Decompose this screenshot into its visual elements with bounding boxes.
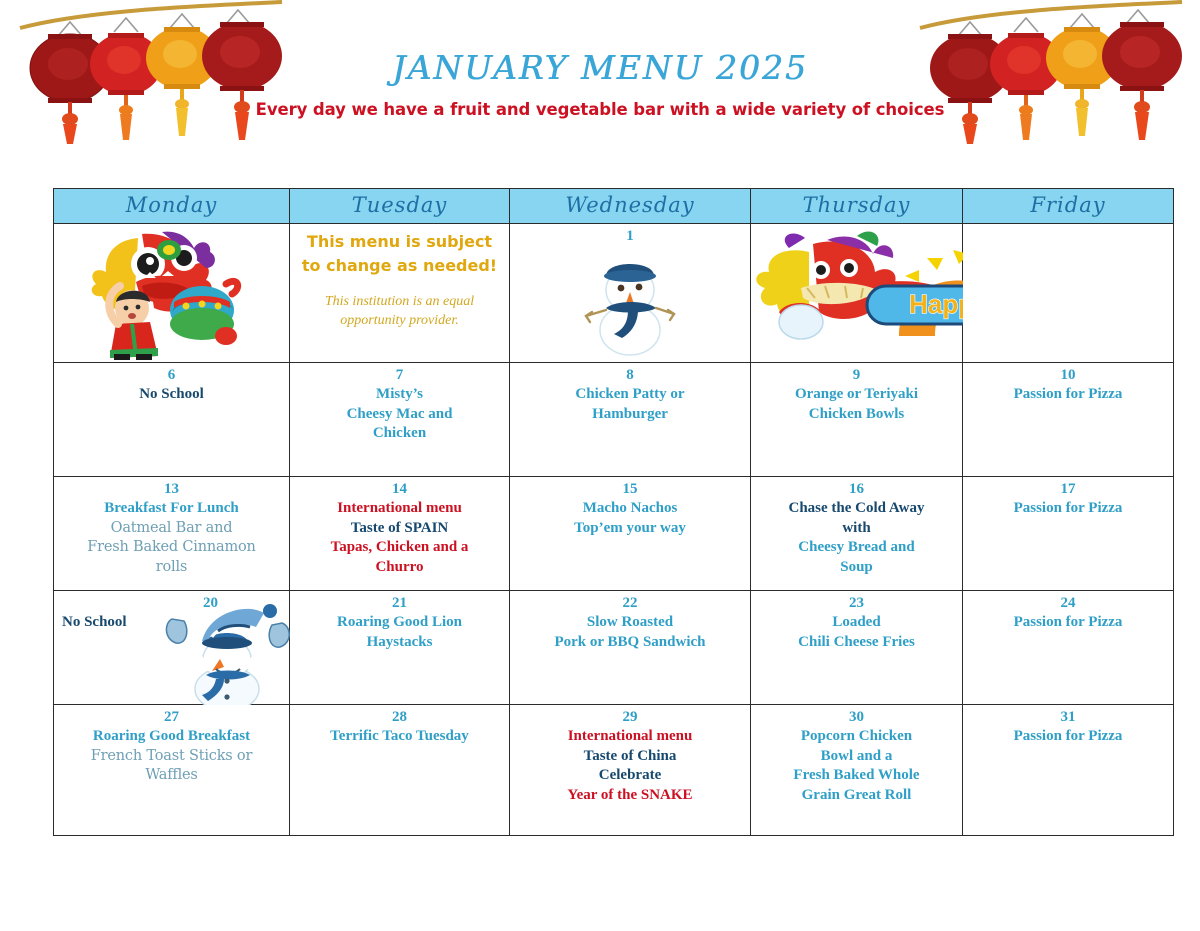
menu-line: Passion for Pizza bbox=[967, 385, 1169, 405]
menu-line: Passion for Pizza bbox=[967, 613, 1169, 633]
day-cell[interactable]: 28 Terrific Taco Tuesday bbox=[290, 705, 510, 836]
menu-line: French Toast Sticks or bbox=[58, 747, 285, 767]
menu-lines: Orange or Teriyaki Chicken Bowls bbox=[751, 385, 962, 424]
day-label: Friday bbox=[1030, 193, 1105, 217]
day-label: Tuesday bbox=[352, 193, 448, 217]
day-cell[interactable]: 8 Chicken Patty or Hamburger bbox=[510, 363, 751, 477]
menu-line: Popcorn Chicken bbox=[755, 727, 958, 747]
day-cell[interactable]: 16 Chase the Cold Away with Cheesy Bread… bbox=[751, 477, 963, 591]
day-cell[interactable]: 14 International menu Taste of SPAIN Tap… bbox=[290, 477, 510, 591]
menu-line: Pork or BBQ Sandwich bbox=[514, 633, 746, 653]
menu-lines: Loaded Chili Cheese Fries bbox=[751, 613, 962, 652]
menu-line: Passion for Pizza bbox=[967, 727, 1169, 747]
menu-line: Soup bbox=[755, 558, 958, 578]
menu-line: Oatmeal Bar and bbox=[58, 519, 285, 539]
menu-line: Chili Cheese Fries bbox=[755, 633, 958, 653]
menu-line: Chicken Bowls bbox=[755, 405, 958, 425]
title-block: JANUARY MENU 2025 Every day we have a fr… bbox=[230, 48, 970, 120]
date-number: 29 bbox=[510, 705, 750, 727]
day-cell[interactable]: 1 bbox=[510, 224, 751, 363]
day-cell[interactable]: 6 No School bbox=[54, 363, 290, 477]
date-number: 17 bbox=[963, 477, 1173, 499]
date-number: 24 bbox=[963, 591, 1173, 613]
menu-line: International menu bbox=[294, 499, 505, 519]
menu-lines: International menu Taste of SPAIN Tapas,… bbox=[290, 499, 509, 577]
menu-line: Roaring Good Breakfast bbox=[58, 727, 285, 747]
date-number: 1 bbox=[510, 224, 750, 246]
calendar-week-row: 27 Roaring Good Breakfast French Toast S… bbox=[54, 705, 1174, 836]
menu-line: Loaded bbox=[755, 613, 958, 633]
day-label: Thursday bbox=[803, 193, 911, 217]
menu-lines: No School bbox=[54, 385, 289, 405]
calendar-week-row: 6 No School 7 Misty’s Cheesy Mac and Chi… bbox=[54, 363, 1174, 477]
menu-line: with bbox=[755, 519, 958, 539]
menu-line: Bowl and a bbox=[755, 747, 958, 767]
menu-lines: Passion for Pizza bbox=[963, 613, 1173, 633]
column-header-friday: Friday bbox=[963, 189, 1174, 224]
menu-line: Cheesy Mac and bbox=[294, 405, 505, 425]
calendar-week-row: This menu is subject to change as needed… bbox=[54, 224, 1174, 363]
menu-line: Year of the SNAKE bbox=[514, 786, 746, 806]
menu-line: Grain Great Roll bbox=[755, 786, 958, 806]
day-cell[interactable]: 30 Popcorn Chicken Bowl and a Fresh Bake… bbox=[751, 705, 963, 836]
day-label: Wednesday bbox=[565, 193, 694, 217]
column-header-monday: Monday bbox=[54, 189, 290, 224]
equal-opportunity-note: This institution is an equal opportunity… bbox=[290, 278, 509, 330]
date-number: 27 bbox=[54, 705, 289, 727]
menu-line: Orange or Teriyaki bbox=[755, 385, 958, 405]
menu-lines: Terrific Taco Tuesday bbox=[290, 727, 509, 747]
column-header-wednesday: Wednesday bbox=[510, 189, 751, 224]
menu-lines: Chase the Cold Away with Cheesy Bread an… bbox=[751, 499, 962, 577]
menu-line: Top’em your way bbox=[514, 519, 746, 539]
date-number: 10 bbox=[963, 363, 1173, 385]
date-number: 23 bbox=[751, 591, 962, 613]
day-cell[interactable]: 27 Roaring Good Breakfast French Toast S… bbox=[54, 705, 290, 836]
menu-lines: Popcorn Chicken Bowl and a Fresh Baked W… bbox=[751, 727, 962, 805]
menu-line: Hamburger bbox=[514, 405, 746, 425]
day-cell[interactable]: 13 Breakfast For Lunch Oatmeal Bar and F… bbox=[54, 477, 290, 591]
day-cell[interactable] bbox=[54, 224, 290, 363]
menu-line: Cheesy Bread and bbox=[755, 538, 958, 558]
day-cell[interactable]: 7 Misty’s Cheesy Mac and Chicken bbox=[290, 363, 510, 477]
no-school-label: No School bbox=[62, 613, 127, 633]
date-number: 22 bbox=[510, 591, 750, 613]
column-header-thursday: Thursday bbox=[751, 189, 963, 224]
day-cell[interactable]: No School 20 bbox=[54, 591, 290, 705]
date-number: 13 bbox=[54, 477, 289, 499]
menu-lines: Passion for Pizza bbox=[963, 385, 1173, 405]
menu-line: No School bbox=[58, 385, 285, 405]
menu-lines: Roaring Good Breakfast French Toast Stic… bbox=[54, 727, 289, 786]
menu-line: Terrific Taco Tuesday bbox=[294, 727, 505, 747]
menu-line: Haystacks bbox=[294, 633, 505, 653]
snowman-winter-hat-icon bbox=[152, 597, 302, 709]
day-cell[interactable]: 21 Roaring Good Lion Haystacks bbox=[290, 591, 510, 705]
day-cell[interactable]: Happy New Year bbox=[751, 224, 963, 363]
menu-lines: Misty’s Cheesy Mac and Chicken bbox=[290, 385, 509, 444]
menu-line: Churro bbox=[294, 558, 505, 578]
page-header: JANUARY MENU 2025 Every day we have a fr… bbox=[0, 0, 1200, 180]
day-cell[interactable]: 17 Passion for Pizza bbox=[963, 477, 1174, 591]
menu-lines: Passion for Pizza bbox=[963, 727, 1173, 747]
menu-lines: Slow Roasted Pork or BBQ Sandwich bbox=[510, 613, 750, 652]
date-number: 15 bbox=[510, 477, 750, 499]
day-label: Monday bbox=[126, 193, 218, 217]
date-number: 16 bbox=[751, 477, 962, 499]
day-cell[interactable]: 9 Orange or Teriyaki Chicken Bowls bbox=[751, 363, 963, 477]
day-cell-note[interactable]: This menu is subject to change as needed… bbox=[290, 224, 510, 363]
menu-line: International menu bbox=[514, 727, 746, 747]
calendar-week-row: No School 20 bbox=[54, 591, 1174, 705]
menu-line: Macho Nachos bbox=[514, 499, 746, 519]
date-number: 30 bbox=[751, 705, 962, 727]
day-cell[interactable] bbox=[963, 224, 1174, 363]
menu-line: Slow Roasted bbox=[514, 613, 746, 633]
menu-line: Misty’s bbox=[294, 385, 505, 405]
page-subtitle: Every day we have a fruit and vegetable … bbox=[230, 100, 970, 120]
menu-calendar: Monday Tuesday Wednesday Thursday Friday bbox=[53, 188, 1174, 836]
menu-line: Fresh Baked Whole bbox=[755, 766, 958, 786]
menu-lines: Roaring Good Lion Haystacks bbox=[290, 613, 509, 652]
menu-change-note: This menu is subject to change as needed… bbox=[290, 224, 509, 278]
date-number: 7 bbox=[290, 363, 509, 385]
menu-line: Waffles bbox=[58, 766, 285, 786]
date-number: 9 bbox=[751, 363, 962, 385]
day-cell[interactable]: 10 Passion for Pizza bbox=[963, 363, 1174, 477]
calendar-week-row: 13 Breakfast For Lunch Oatmeal Bar and F… bbox=[54, 477, 1174, 591]
day-cell[interactable]: 22 Slow Roasted Pork or BBQ Sandwich bbox=[510, 591, 751, 705]
snowman-icon bbox=[570, 238, 690, 358]
day-cell[interactable]: 29 International menu Taste of China Cel… bbox=[510, 705, 751, 836]
menu-line: Chase the Cold Away bbox=[755, 499, 958, 519]
day-cell[interactable]: 24 Passion for Pizza bbox=[963, 591, 1174, 705]
column-header-tuesday: Tuesday bbox=[290, 189, 510, 224]
day-cell[interactable]: 31 Passion for Pizza bbox=[963, 705, 1174, 836]
menu-line: Breakfast For Lunch bbox=[58, 499, 285, 519]
day-cell[interactable]: 23 Loaded Chili Cheese Fries bbox=[751, 591, 963, 705]
date-number: 6 bbox=[54, 363, 289, 385]
date-number: 21 bbox=[290, 591, 509, 613]
menu-lines: Macho Nachos Top’em your way bbox=[510, 499, 750, 538]
menu-line: Taste of China bbox=[514, 747, 746, 767]
date-number: 20 bbox=[54, 591, 289, 613]
menu-line: Fresh Baked Cinnamon bbox=[58, 538, 285, 558]
menu-lines: Breakfast For Lunch Oatmeal Bar and Fres… bbox=[54, 499, 289, 577]
date-number: 28 bbox=[290, 705, 509, 727]
date-number: 14 bbox=[290, 477, 509, 499]
menu-line: Celebrate bbox=[514, 766, 746, 786]
menu-lines: Chicken Patty or Hamburger bbox=[510, 385, 750, 424]
menu-line: rolls bbox=[58, 558, 285, 578]
page-title: JANUARY MENU 2025 bbox=[230, 48, 970, 88]
date-number bbox=[54, 224, 289, 227]
menu-lines: Passion for Pizza bbox=[963, 499, 1173, 519]
date-number: 31 bbox=[963, 705, 1173, 727]
menu-lines: International menu Taste of China Celebr… bbox=[510, 727, 750, 805]
menu-line: Chicken Patty or bbox=[514, 385, 746, 405]
menu-line: Taste of SPAIN bbox=[294, 519, 505, 539]
menu-line: Chicken bbox=[294, 424, 505, 444]
menu-line: Passion for Pizza bbox=[967, 499, 1169, 519]
date-number bbox=[963, 224, 1173, 227]
date-number: 8 bbox=[510, 363, 750, 385]
menu-line: Roaring Good Lion bbox=[294, 613, 505, 633]
date-number bbox=[751, 224, 962, 227]
menu-line: Tapas, Chicken and a bbox=[294, 538, 505, 558]
lion-dance-icon bbox=[76, 228, 246, 360]
day-cell[interactable]: 15 Macho Nachos Top’em your way bbox=[510, 477, 751, 591]
calendar-header-row: Monday Tuesday Wednesday Thursday Friday bbox=[54, 189, 1174, 224]
